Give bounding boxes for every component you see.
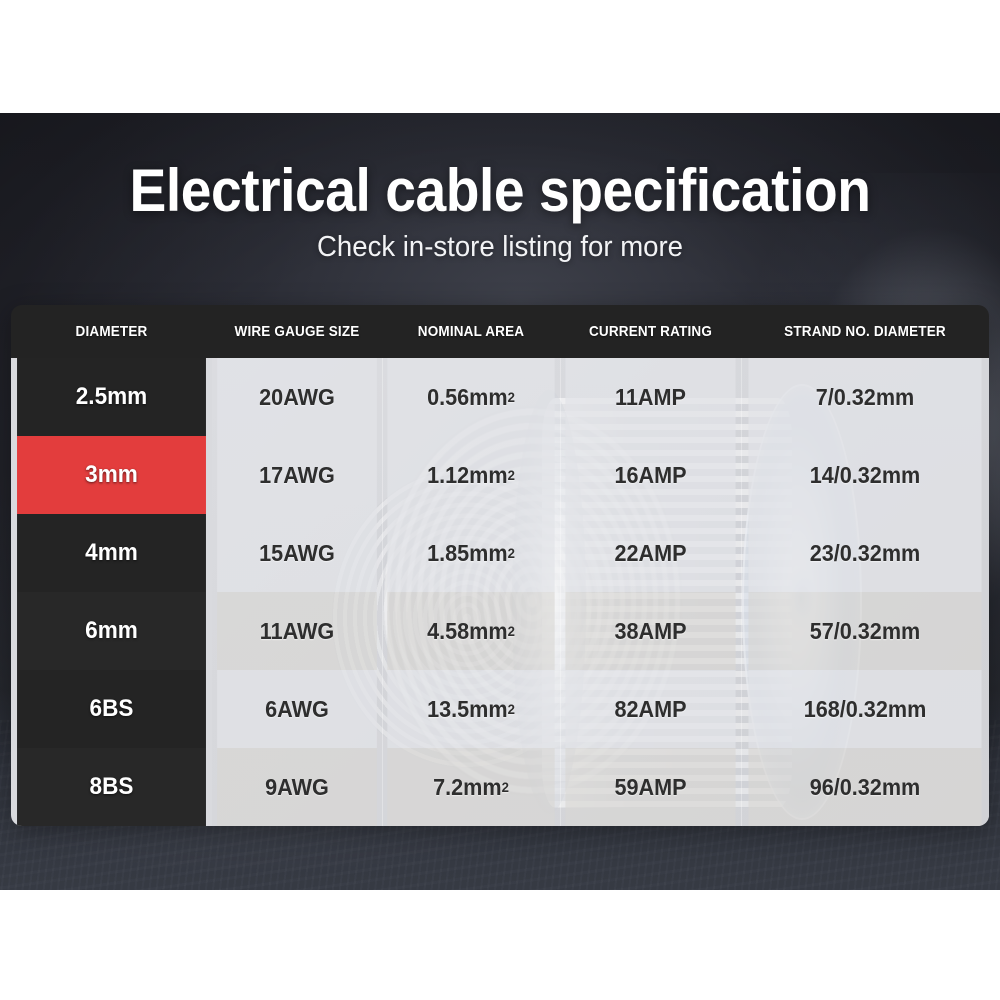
cell-diameter: 3mm [17,436,206,514]
cell-nominal-area-value: 7.2mm [433,774,502,801]
cell-strand-no-diameter: 168/0.32mm [748,670,981,748]
cell-wire-gauge-size: 6AWG [217,670,377,748]
cell-nominal-area-value: 1.85mm [427,540,508,567]
cell-diameter: 2.5mm [17,358,206,436]
page-title: Electrical cable specification [40,160,960,221]
column-header-nominal-area: NOMINAL AREA [391,305,551,358]
specification-table: DIAMETER WIRE GAUGE SIZE NOMINAL AREA CU… [11,305,989,826]
column-header-diameter: DIAMETER [21,305,202,358]
cell-wire-gauge-size: 20AWG [217,358,377,436]
table-row: 6BS 6AWG 13.5mm2 82AMP 168/0.32mm [11,670,989,748]
cell-nominal-area-exponent: 2 [502,779,509,795]
cell-current-rating: 16AMP [565,436,735,514]
cell-strand-no-diameter: 14/0.32mm [748,436,981,514]
cell-strand-no-diameter: 7/0.32mm [748,358,981,436]
cell-diameter: 4mm [17,514,206,592]
cell-nominal-area: 1.85mm2 [387,514,554,592]
cell-nominal-area-value: 13.5mm [427,696,508,723]
table-row: 6mm 11AWG 4.58mm2 38AMP 57/0.32mm [11,592,989,670]
cell-strand-no-diameter: 96/0.32mm [748,748,981,826]
cell-current-rating: 22AMP [565,514,735,592]
product-spec-graphic: Electrical cable specification Check in-… [0,0,1000,1000]
cell-nominal-area-value: 0.56mm [427,384,508,411]
cell-current-rating: 11AMP [565,358,735,436]
cell-current-rating: 59AMP [565,748,735,826]
cell-strand-no-diameter: 57/0.32mm [748,592,981,670]
cell-nominal-area-exponent: 2 [508,623,515,639]
table-header-row: DIAMETER WIRE GAUGE SIZE NOMINAL AREA CU… [11,305,989,358]
table-row: 8BS 9AWG 7.2mm2 59AMP 96/0.32mm [11,748,989,826]
cell-nominal-area: 4.58mm2 [387,592,554,670]
table-body: 2.5mm 20AWG 0.56mm2 11AMP 7/0.32mm 3mm 1… [11,358,989,826]
cell-diameter: 6BS [17,670,206,748]
cell-wire-gauge-size: 15AWG [217,514,377,592]
cell-wire-gauge-size: 9AWG [217,748,377,826]
table-row: 4mm 15AWG 1.85mm2 22AMP 23/0.32mm [11,514,989,592]
cell-nominal-area-value: 4.58mm [427,618,508,645]
cell-wire-gauge-size: 17AWG [217,436,377,514]
cell-nominal-area: 0.56mm2 [387,358,554,436]
page-subtitle: Check in-store listing for more [25,231,975,264]
header-block: Electrical cable specification Check in-… [0,160,1000,264]
cell-nominal-area: 1.12mm2 [387,436,554,514]
cell-nominal-area-exponent: 2 [508,701,515,717]
cell-nominal-area-exponent: 2 [508,389,515,405]
cell-current-rating: 82AMP [565,670,735,748]
column-header-strand-no-diameter: STRAND NO. DIAMETER [753,305,976,358]
cell-diameter: 6mm [17,592,206,670]
table-row-highlighted: 3mm 17AWG 1.12mm2 16AMP 14/0.32mm [11,436,989,514]
cell-nominal-area: 13.5mm2 [387,670,554,748]
cell-diameter: 8BS [17,748,206,826]
cell-current-rating: 38AMP [565,592,735,670]
cell-nominal-area-exponent: 2 [508,467,515,483]
column-header-wire-gauge-size: WIRE GAUGE SIZE [221,305,374,358]
cell-nominal-area-exponent: 2 [508,545,515,561]
cell-strand-no-diameter: 23/0.32mm [748,514,981,592]
cell-wire-gauge-size: 11AWG [217,592,377,670]
table-rows: 2.5mm 20AWG 0.56mm2 11AMP 7/0.32mm 3mm 1… [11,358,989,826]
column-header-current-rating: CURRENT RATING [569,305,732,358]
table-row: 2.5mm 20AWG 0.56mm2 11AMP 7/0.32mm [11,358,989,436]
cell-nominal-area: 7.2mm2 [387,748,554,826]
cell-nominal-area-value: 1.12mm [427,462,508,489]
